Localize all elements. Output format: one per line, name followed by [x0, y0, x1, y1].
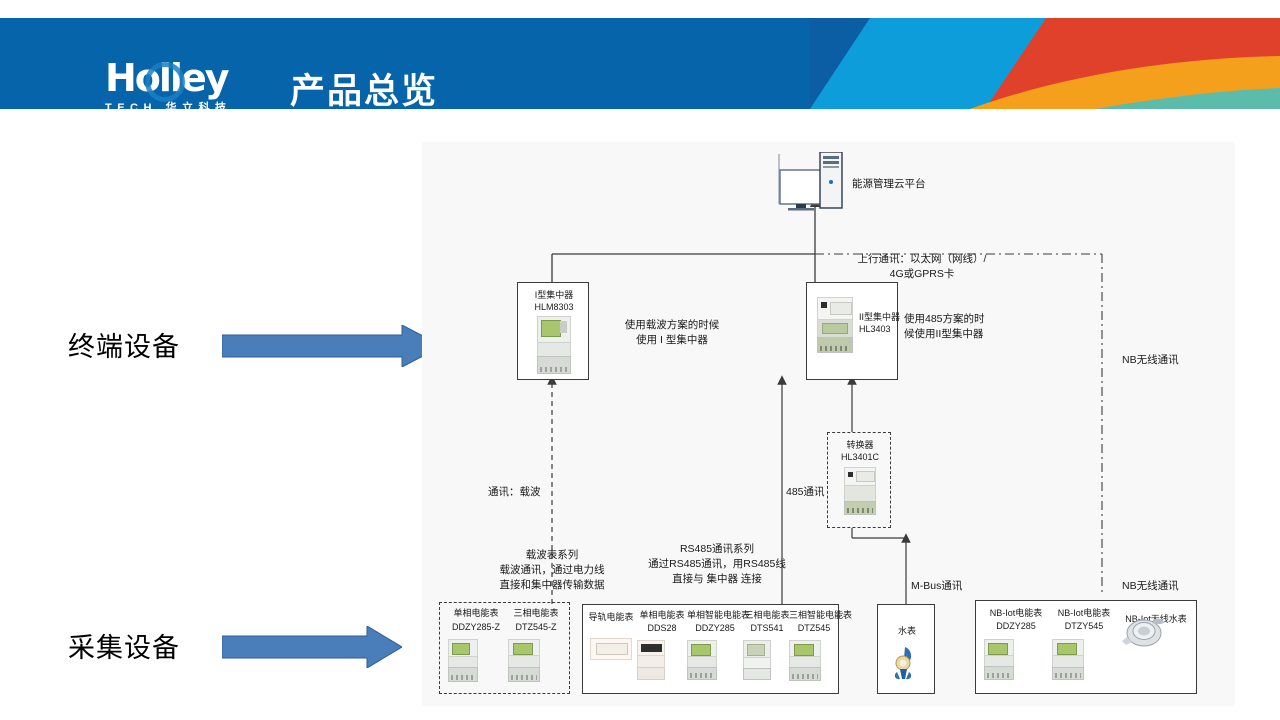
group-rs485-heading-line2: 通过RS485通讯，用RS485线	[597, 557, 837, 572]
holley-logo: Holley TECH 华立科技	[105, 60, 265, 109]
device-name: 单相电能表	[448, 607, 504, 620]
concentrator-1-box[interactable]: I型集中器 HLM8303	[517, 282, 589, 380]
device-image	[590, 638, 632, 660]
group-rs485-heading: RS485通讯系列 通过RS485通讯，用RS485线 直接与 集中器 连接	[597, 542, 837, 587]
device-model: DTZ545	[789, 622, 839, 635]
concentrator-2-note-line1: 使用485方案的时	[904, 312, 1054, 327]
header-swoosh-graphic	[810, 18, 1280, 109]
device-model: DDZY285-Z	[448, 621, 504, 634]
device-name: NB-Iot电能表	[1052, 607, 1116, 620]
uplink-note: 上行通讯：以太网（网线）/ 4G或GPRS卡	[822, 252, 1022, 282]
logo-subtext: TECH 华立科技	[105, 99, 265, 109]
device-item[interactable]: 三相智能电能表 DTZ545	[789, 609, 839, 686]
label-mbus-comm: M-Bus通讯	[911, 580, 962, 593]
concentrator-2-box[interactable]: II型集中器 HL3403	[806, 282, 898, 380]
label-collection-equipment: 采集设备	[68, 626, 180, 665]
device-model: DTS541	[743, 622, 791, 635]
concentrator-2-model: HL3403	[859, 323, 891, 336]
label-nb-wireless-mid: NB无线通讯	[1122, 354, 1179, 367]
logo-ring-icon	[145, 62, 185, 102]
arrow-collection-equipment	[222, 626, 402, 673]
device-image	[508, 639, 540, 682]
device-item[interactable]: NB-Iot电能表 DDZY285	[984, 607, 1048, 685]
device-item[interactable]: 单相智能电能表 DDZY285	[687, 609, 743, 685]
concentrator-2-note: 使用485方案的时 候使用II型集中器	[904, 312, 1054, 342]
uplink-note-line1: 上行通讯：以太网（网线）/	[822, 252, 1022, 267]
converter-device-image	[844, 467, 876, 515]
concentrator-1-note-line2: 使用 I 型集中器	[597, 333, 747, 348]
cloud-platform-label: 能源管理云平台	[852, 178, 926, 191]
device-item[interactable]: NB-Iot电能表 DTZY545	[1052, 607, 1116, 685]
page-header: Holley TECH 华立科技 产品总览	[0, 18, 1280, 109]
device-image	[789, 640, 821, 681]
device-name: 三相电能表	[508, 607, 564, 620]
device-name: 三相智能电能表	[789, 609, 839, 622]
group-carrier-box[interactable]: 单相电能表 DDZY285-Z 三相电能表 DTZ545-Z	[439, 602, 570, 694]
device-image	[637, 640, 665, 680]
device-image	[448, 639, 478, 682]
label-485-comm: 485通讯	[786, 486, 825, 499]
device-item[interactable]: 三相电能表 DTS541	[743, 609, 791, 685]
page-title: 产品总览	[290, 63, 438, 109]
device-name: 导轨电能表	[585, 611, 637, 624]
device-model: DDZY285	[984, 620, 1048, 633]
group-rs485-heading-line3: 直接与 集中器 连接	[597, 572, 837, 587]
device-model: DTZY545	[1052, 620, 1116, 633]
device-item[interactable]: 三相电能表 DTZ545-Z	[508, 607, 564, 687]
label-terminal-equipment: 终端设备	[68, 325, 180, 364]
concentrator-1-model: HLM8303	[518, 301, 590, 314]
concentrator-2-device-image	[817, 297, 853, 353]
device-name: 水表	[878, 625, 936, 638]
group-rs485-heading-line1: RS485通讯系列	[597, 542, 837, 557]
concentrator-1-device-image	[537, 316, 571, 374]
converter-model: HL3401C	[828, 451, 892, 464]
device-name: 三相电能表	[743, 609, 791, 622]
device-name: 单相智能电能表	[687, 609, 743, 622]
device-image	[687, 640, 717, 680]
architecture-diagram: 能源管理云平台 上行通讯：以太网（网线）/ 4G或GPRS卡 I型集中器 HLM…	[422, 142, 1235, 706]
group-mbus-box[interactable]: 水表	[877, 604, 935, 694]
device-image	[743, 640, 771, 680]
device-name: NB-Iot电能表	[984, 607, 1048, 620]
label-nb-wireless-bottom: NB无线通讯	[1122, 580, 1179, 593]
cloud-platform-icon	[774, 152, 844, 212]
uplink-note-line2: 4G或GPRS卡	[822, 267, 1022, 282]
label-carrier-comm: 通讯：载波	[488, 486, 541, 499]
device-item[interactable]: NB-Iot无线水表	[1120, 613, 1192, 636]
arrow-terminal-equipment	[222, 325, 442, 372]
concentrator-1-note-line1: 使用载波方案的时候	[597, 318, 747, 333]
converter-box[interactable]: 转换器 HL3401C	[827, 432, 891, 528]
device-model: DDS28	[637, 622, 687, 635]
device-image	[984, 639, 1014, 680]
group-rs485-box[interactable]: 导轨电能表 单相电能表 DDS28 单相智能电能表 DDZY285 三	[582, 604, 839, 694]
device-item[interactable]: 单相电能表 DDZY285-Z	[448, 607, 504, 687]
device-model: DTZ545-Z	[508, 621, 564, 634]
device-name: 单相电能表	[637, 609, 687, 622]
concentrator-1-note: 使用载波方案的时候 使用 I 型集中器	[597, 318, 747, 348]
group-nb-box[interactable]: NB-Iot电能表 DDZY285 NB-Iot电能表 DTZY545 NB-I…	[975, 600, 1197, 694]
device-item[interactable]: 导轨电能表	[585, 611, 637, 660]
concentrator-2-note-line2: 候使用II型集中器	[904, 327, 1054, 342]
logo-wordmark: Holley	[105, 60, 265, 96]
device-image	[1052, 639, 1084, 680]
device-item[interactable]: 单相电能表 DDS28	[637, 609, 687, 685]
device-model: DDZY285	[687, 622, 743, 635]
